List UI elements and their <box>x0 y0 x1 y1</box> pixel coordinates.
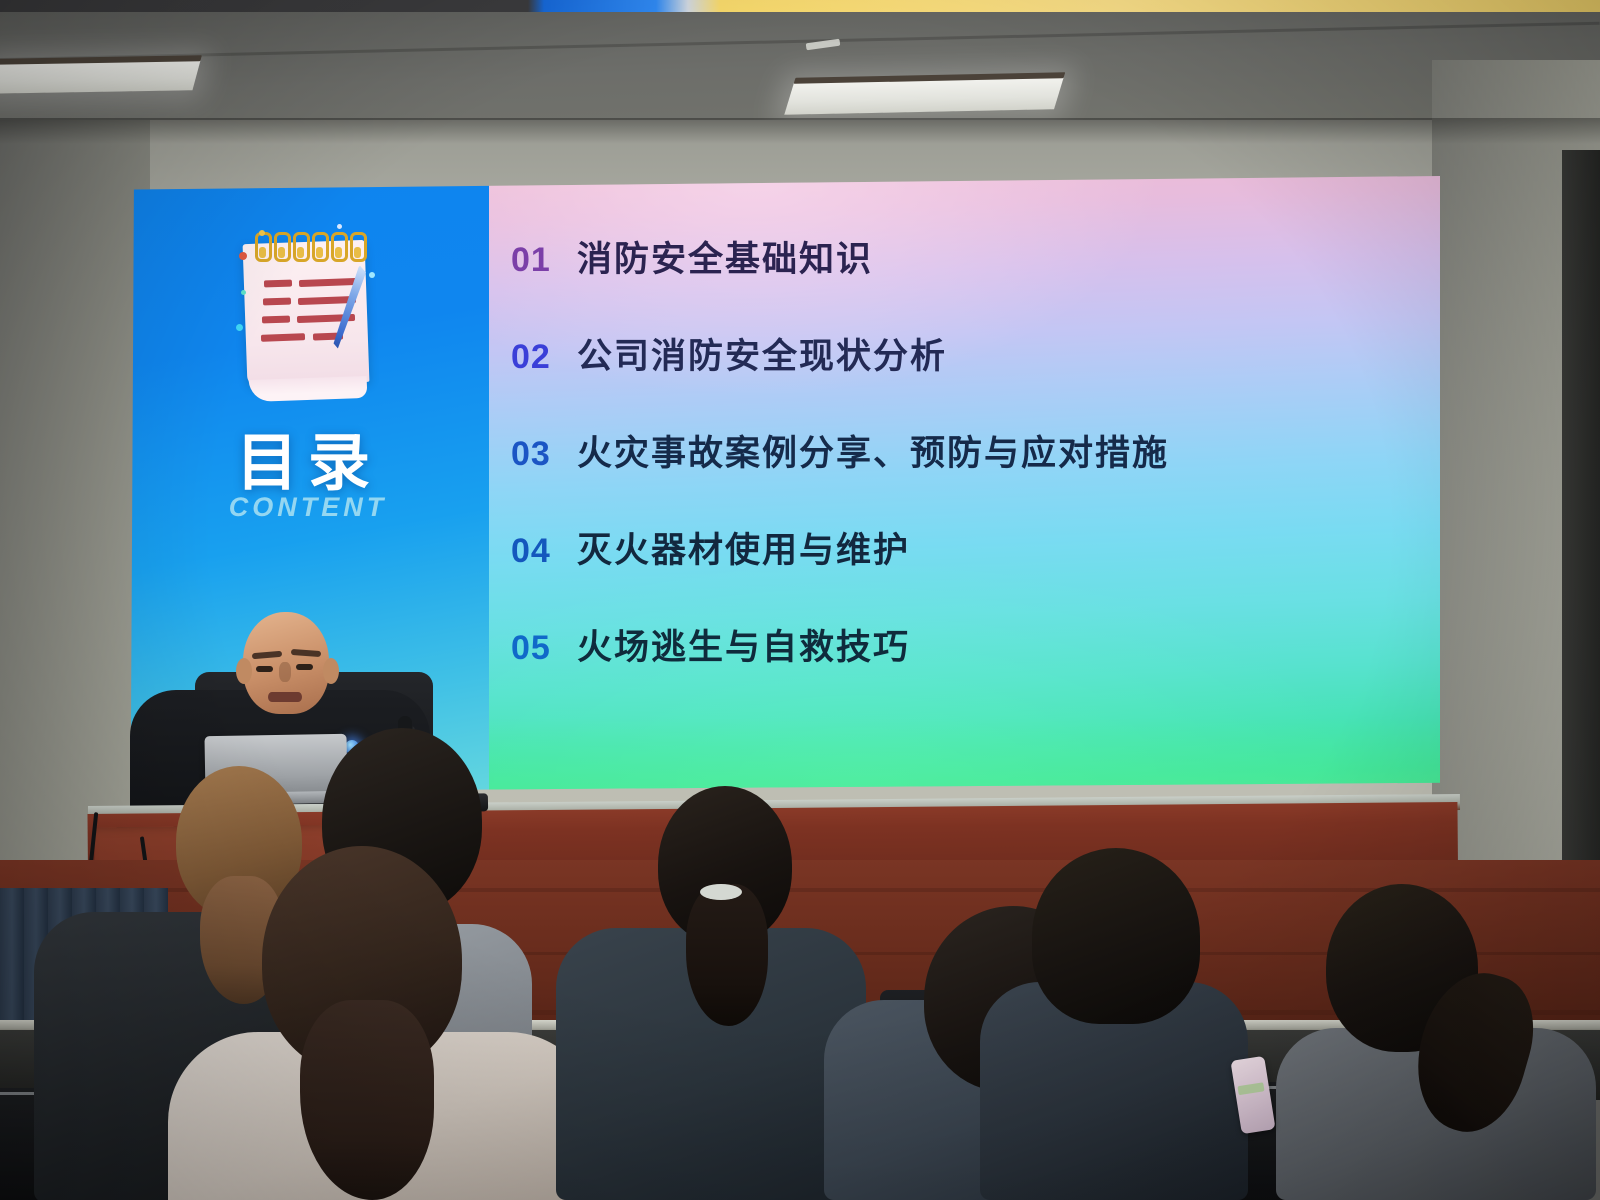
agenda-item-03: 03 火灾事故案例分享、预防与应对措施 <box>511 425 1377 476</box>
slide-bottom-highlight <box>489 718 1440 792</box>
agenda-item-05: 05 火场逃生与自救技巧 <box>511 619 1377 670</box>
lecture-room-photo: 目录 CONTENT 01 消防安全基础知识 02 公司消防安全现状分析 03 … <box>0 0 1600 1200</box>
agenda-label: 灭火器材使用与维护 <box>577 522 910 573</box>
presenter-ear-left <box>236 658 252 684</box>
attendee-4-hairband <box>700 884 742 900</box>
agenda-number: 04 <box>511 532 577 571</box>
agenda-number: 03 <box>511 435 577 474</box>
presenter-nose <box>279 662 291 682</box>
ceiling-light-panel-left <box>0 60 201 94</box>
agenda-number: 01 <box>511 241 577 280</box>
upper-wall-light-strip <box>0 0 1600 12</box>
agenda-item-01: 01 消防安全基础知识 <box>511 231 1377 282</box>
slide-subtitle-english: CONTENT <box>128 492 488 523</box>
agenda-label: 公司消防安全现状分析 <box>577 328 947 379</box>
wall-ceiling-shadow <box>0 118 1600 144</box>
notepad-icon <box>233 228 385 394</box>
right-wall-dark-edge <box>1562 150 1600 870</box>
left-wall-shadow <box>0 120 150 880</box>
attendee-6-head <box>1032 848 1200 1024</box>
agenda-label: 消防安全基础知识 <box>577 231 873 282</box>
presenter-mouth <box>268 692 302 702</box>
agenda-list: 01 消防安全基础知识 02 公司消防安全现状分析 03 火灾事故案例分享、预防… <box>511 231 1377 716</box>
agenda-label: 火场逃生与自救技巧 <box>577 619 910 670</box>
ceiling-light-panel-center <box>784 77 1063 115</box>
presenter-ear-right <box>323 658 339 684</box>
agenda-label: 火灾事故案例分享、预防与应对措施 <box>577 425 1169 476</box>
slide-title-chinese: 目录 <box>128 412 488 502</box>
presenter-eye-right <box>296 664 313 670</box>
agenda-number: 05 <box>511 629 577 668</box>
agenda-number: 02 <box>511 338 577 377</box>
attendee-4-ponytail <box>686 884 768 1026</box>
agenda-item-02: 02 公司消防安全现状分析 <box>511 328 1377 379</box>
presenter-eye-left <box>256 666 273 672</box>
agenda-item-04: 04 灭火器材使用与维护 <box>511 522 1377 573</box>
